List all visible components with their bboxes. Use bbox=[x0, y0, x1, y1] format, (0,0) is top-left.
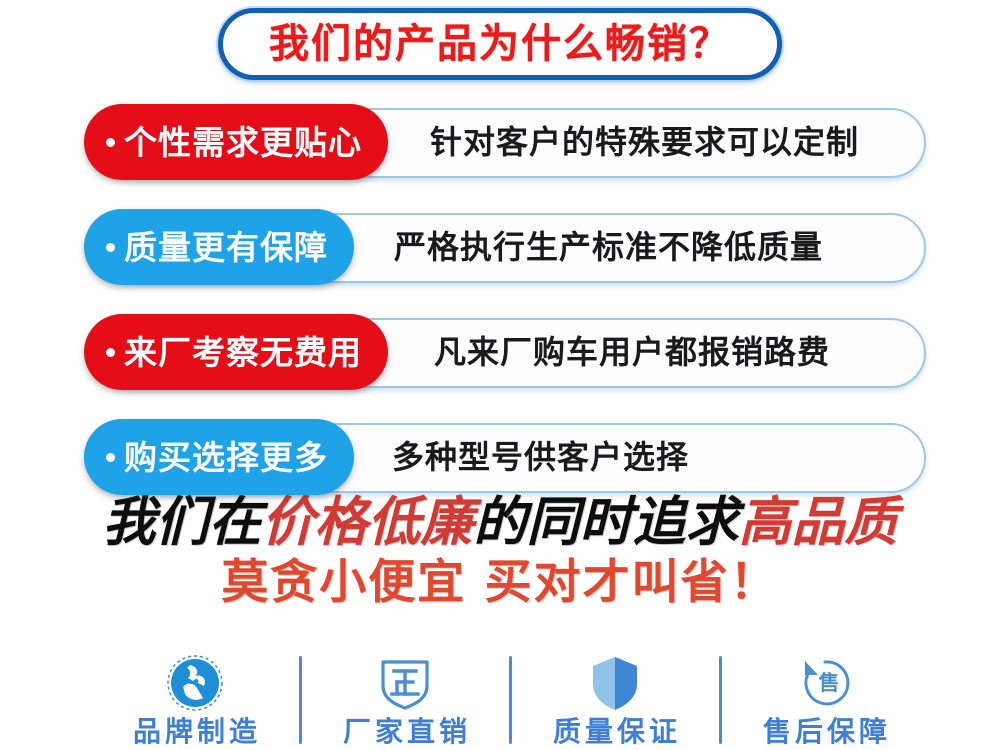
badge-factory-direct: 厂家直销 bbox=[320, 652, 490, 746]
tagline-line-2: 莫贪小便宜 买对才叫省！ bbox=[0, 557, 1000, 609]
feature-pill: 购买选择更多 bbox=[84, 419, 354, 495]
title-pill: 我们的产品为什么畅销？ bbox=[218, 8, 782, 80]
feature-description: 严格执行生产标准不降低质量 bbox=[394, 209, 823, 285]
bullet-dot-icon bbox=[106, 453, 115, 462]
badge-divider bbox=[299, 656, 302, 744]
feature-row: 个性需求更贴心 针对客户的特殊要求可以定制 bbox=[0, 104, 1000, 182]
feature-list: 个性需求更贴心 针对客户的特殊要求可以定制 质量更有保障 严格执行生产标准不降低… bbox=[0, 104, 1000, 524]
badge-label: 厂家直销 bbox=[339, 718, 471, 746]
feature-pill-label: 个性需求更贴心 bbox=[124, 126, 362, 159]
page-title: 我们的产品为什么畅销？ bbox=[269, 24, 731, 64]
badge-divider bbox=[509, 656, 512, 744]
tagline-text-1: 我们在 bbox=[103, 492, 262, 553]
badge-label: 售后保障 bbox=[759, 718, 891, 746]
trust-badges: 品牌制造 厂家直销 bbox=[110, 628, 910, 746]
badge-divider bbox=[719, 656, 722, 744]
page-title-container: 我们的产品为什么畅销？ bbox=[218, 8, 782, 80]
badge-brand-manufacturing: 品牌制造 bbox=[110, 652, 280, 746]
tagline-block: 我们在价格低廉的同时追求高品质 莫贪小便宜 买对才叫省！ bbox=[0, 494, 1000, 609]
feature-description: 多种型号供客户选择 bbox=[392, 419, 689, 495]
feature-pill-label: 购买选择更多 bbox=[124, 441, 328, 474]
feature-pill: 质量更有保障 bbox=[84, 209, 354, 285]
promo-page: 我们的产品为什么畅销？ 个性需求更贴心 针对客户的特殊要求可以定制 质量更有保障… bbox=[0, 0, 1000, 750]
tagline-line-1: 我们在价格低廉的同时追求高品质 bbox=[0, 494, 1000, 551]
feature-pill-label: 质量更有保障 bbox=[124, 231, 328, 264]
badge-label: 质量保证 bbox=[549, 718, 681, 746]
badge-after-sales: 售 售后保障 bbox=[740, 652, 910, 746]
badge-label: 品牌制造 bbox=[129, 718, 261, 746]
bullet-dot-icon bbox=[106, 348, 115, 357]
feature-row: 购买选择更多 多种型号供客户选择 bbox=[0, 419, 1000, 497]
bullet-dot-icon bbox=[106, 138, 115, 147]
feature-description: 针对客户的特殊要求可以定制 bbox=[430, 104, 859, 180]
shield-zheng-icon bbox=[377, 652, 433, 714]
badge-quality-guarantee: 质量保证 bbox=[530, 652, 700, 746]
shield-check-icon bbox=[589, 652, 641, 714]
tagline-highlight-2: 高品质 bbox=[739, 492, 898, 553]
tagline-highlight-1: 价格低廉 bbox=[262, 492, 474, 553]
feature-pill: 个性需求更贴心 bbox=[84, 104, 388, 180]
bullet-dot-icon bbox=[106, 243, 115, 252]
brand-globe-icon bbox=[166, 652, 224, 714]
feature-description: 凡来厂购车用户都报销路费 bbox=[434, 314, 830, 390]
feature-row: 来厂考察无费用 凡来厂购车用户都报销路费 bbox=[0, 314, 1000, 392]
feature-row: 质量更有保障 严格执行生产标准不降低质量 bbox=[0, 209, 1000, 287]
svg-text:售: 售 bbox=[819, 671, 840, 695]
feature-pill: 来厂考察无费用 bbox=[84, 314, 388, 390]
after-sales-refresh-icon: 售 bbox=[795, 652, 855, 714]
tagline-text-2: 的同时追求 bbox=[474, 492, 739, 553]
feature-pill-label: 来厂考察无费用 bbox=[124, 336, 362, 369]
